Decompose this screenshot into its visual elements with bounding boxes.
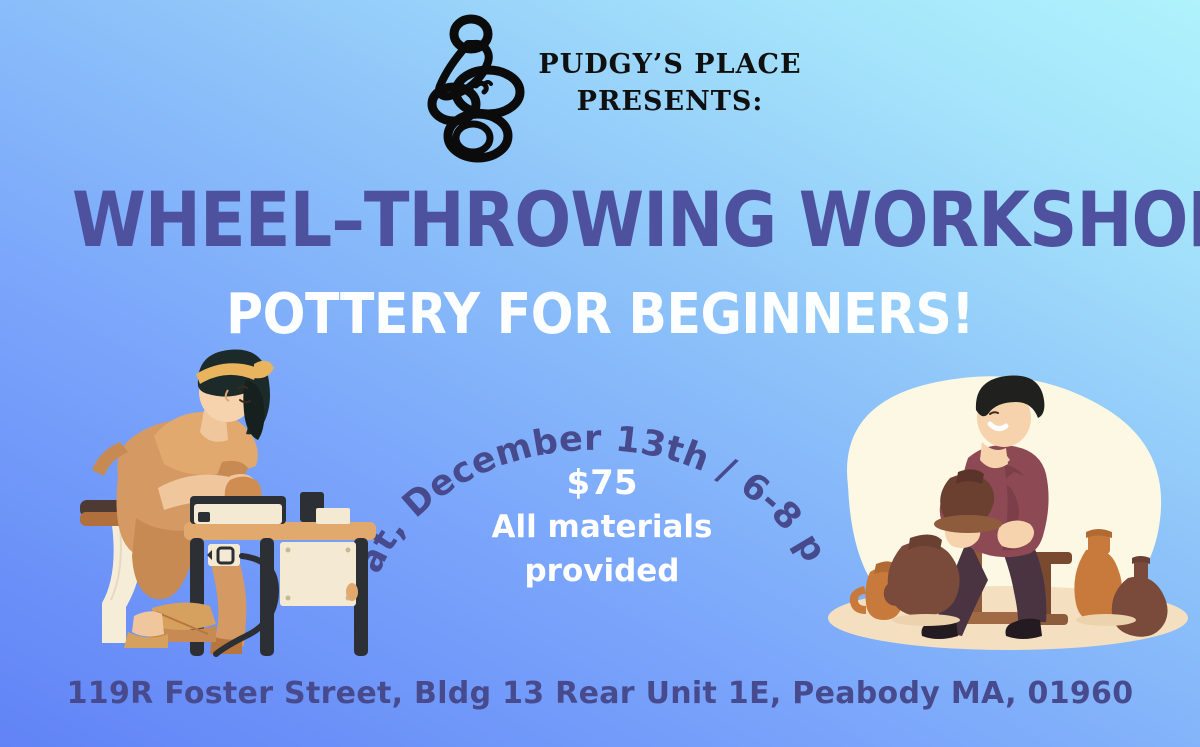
price-line-1: All materials: [452, 505, 752, 549]
brand-name: PUDGY’S PLACE: [520, 46, 820, 83]
flyer-canvas: PUDGY’S PLACE PRESENTS: WHEEL–THROWING W…: [0, 0, 1200, 747]
brand-header: PUDGY’S PLACE PRESENTS:: [0, 8, 1200, 163]
venue-address: 119R Foster Street, Bldg 13 Rear Unit 1E…: [0, 676, 1200, 711]
page-title: WHEEL–THROWING WORKSHOP: [72, 182, 1128, 258]
page-subtitle: POTTERY FOR BEGINNERS!: [60, 287, 1140, 343]
woman-at-pottery-wheel-illustration: [62, 340, 402, 660]
man-at-pottery-wheel-with-vases-illustration: [818, 366, 1190, 662]
brand-wordmark: PUDGY’S PLACE PRESENTS:: [520, 46, 820, 121]
price-amount: $75: [452, 462, 752, 505]
price-block: $75 All materials provided: [452, 462, 752, 593]
price-line-2: provided: [452, 549, 752, 593]
brand-presents: PRESENTS:: [520, 83, 820, 120]
